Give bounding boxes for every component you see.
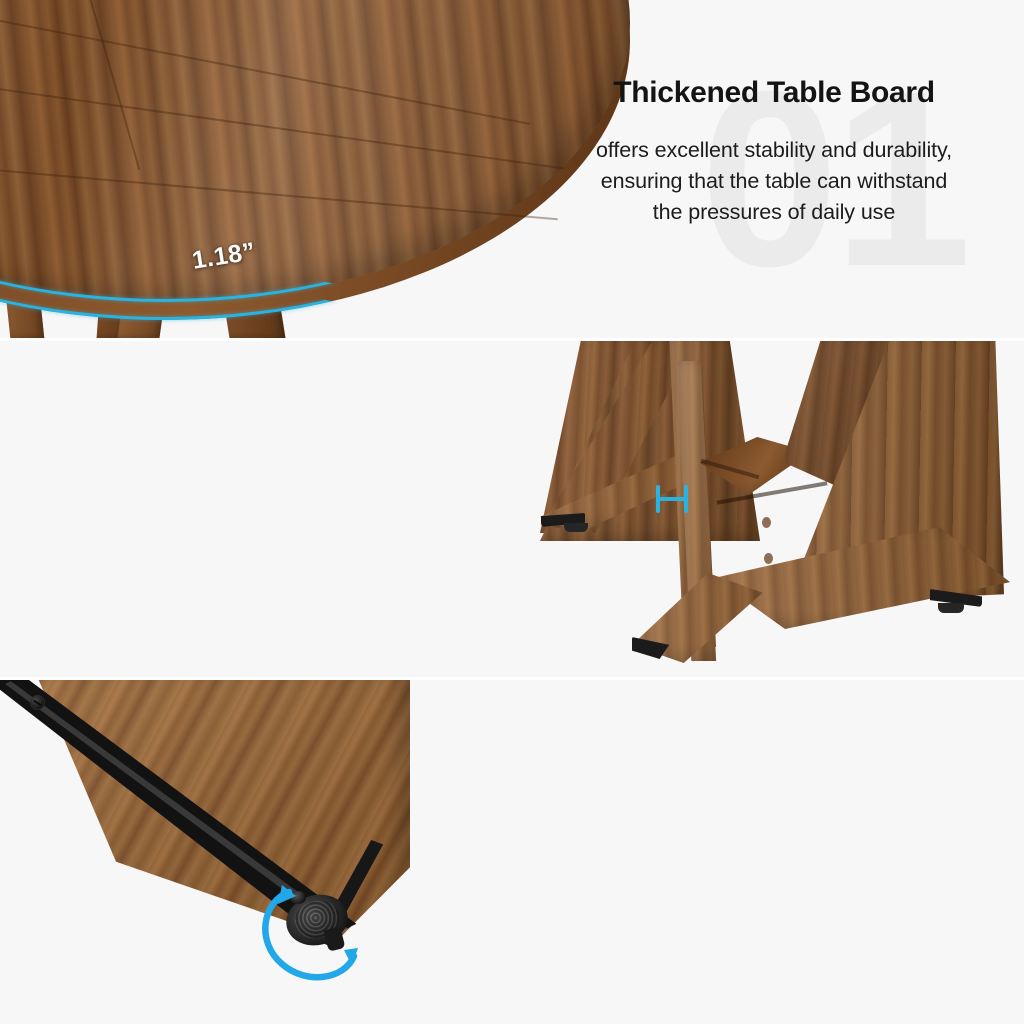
product-feature-infographic: 1.18” 01 Thickened Table Board offers ex…	[0, 0, 1024, 1024]
rotation-arrow-head-right	[344, 948, 358, 966]
feature-1-textblock: Thickened Table Board offers excellent s…	[524, 76, 1024, 229]
foot-pad-left	[564, 523, 588, 532]
feature-1-desc-line: ensuring that the table can withstand	[524, 166, 1024, 197]
feature-panel-1: 1.18” 01 Thickened Table Board offers ex…	[0, 0, 1024, 338]
pedestal-base-photo: 1.57”	[0, 341, 1024, 677]
feature-1-desc-line: offers excellent stability and durabilit…	[524, 135, 1024, 166]
dowel-plug	[764, 553, 773, 564]
panel-divider	[0, 338, 1024, 341]
foot-pad-right	[938, 603, 964, 613]
feature-panel-3: 03 Adjustable Foot Pads not only provide…	[0, 680, 1024, 1024]
adjustable-foot-pad-photo	[0, 680, 1024, 1024]
dowel-plug	[762, 517, 771, 528]
panel-divider	[0, 677, 1024, 680]
feature-1-description: offers excellent stability and durabilit…	[524, 135, 1024, 229]
feature-panel-2: 1.57” 02 Stable Table Base maximizes sup…	[0, 341, 1024, 677]
feature-1-title: Thickened Table Board	[524, 76, 1024, 109]
foot-pad-screw-top	[290, 891, 306, 904]
feature-1-desc-line: the pressures of daily use	[524, 197, 1024, 228]
